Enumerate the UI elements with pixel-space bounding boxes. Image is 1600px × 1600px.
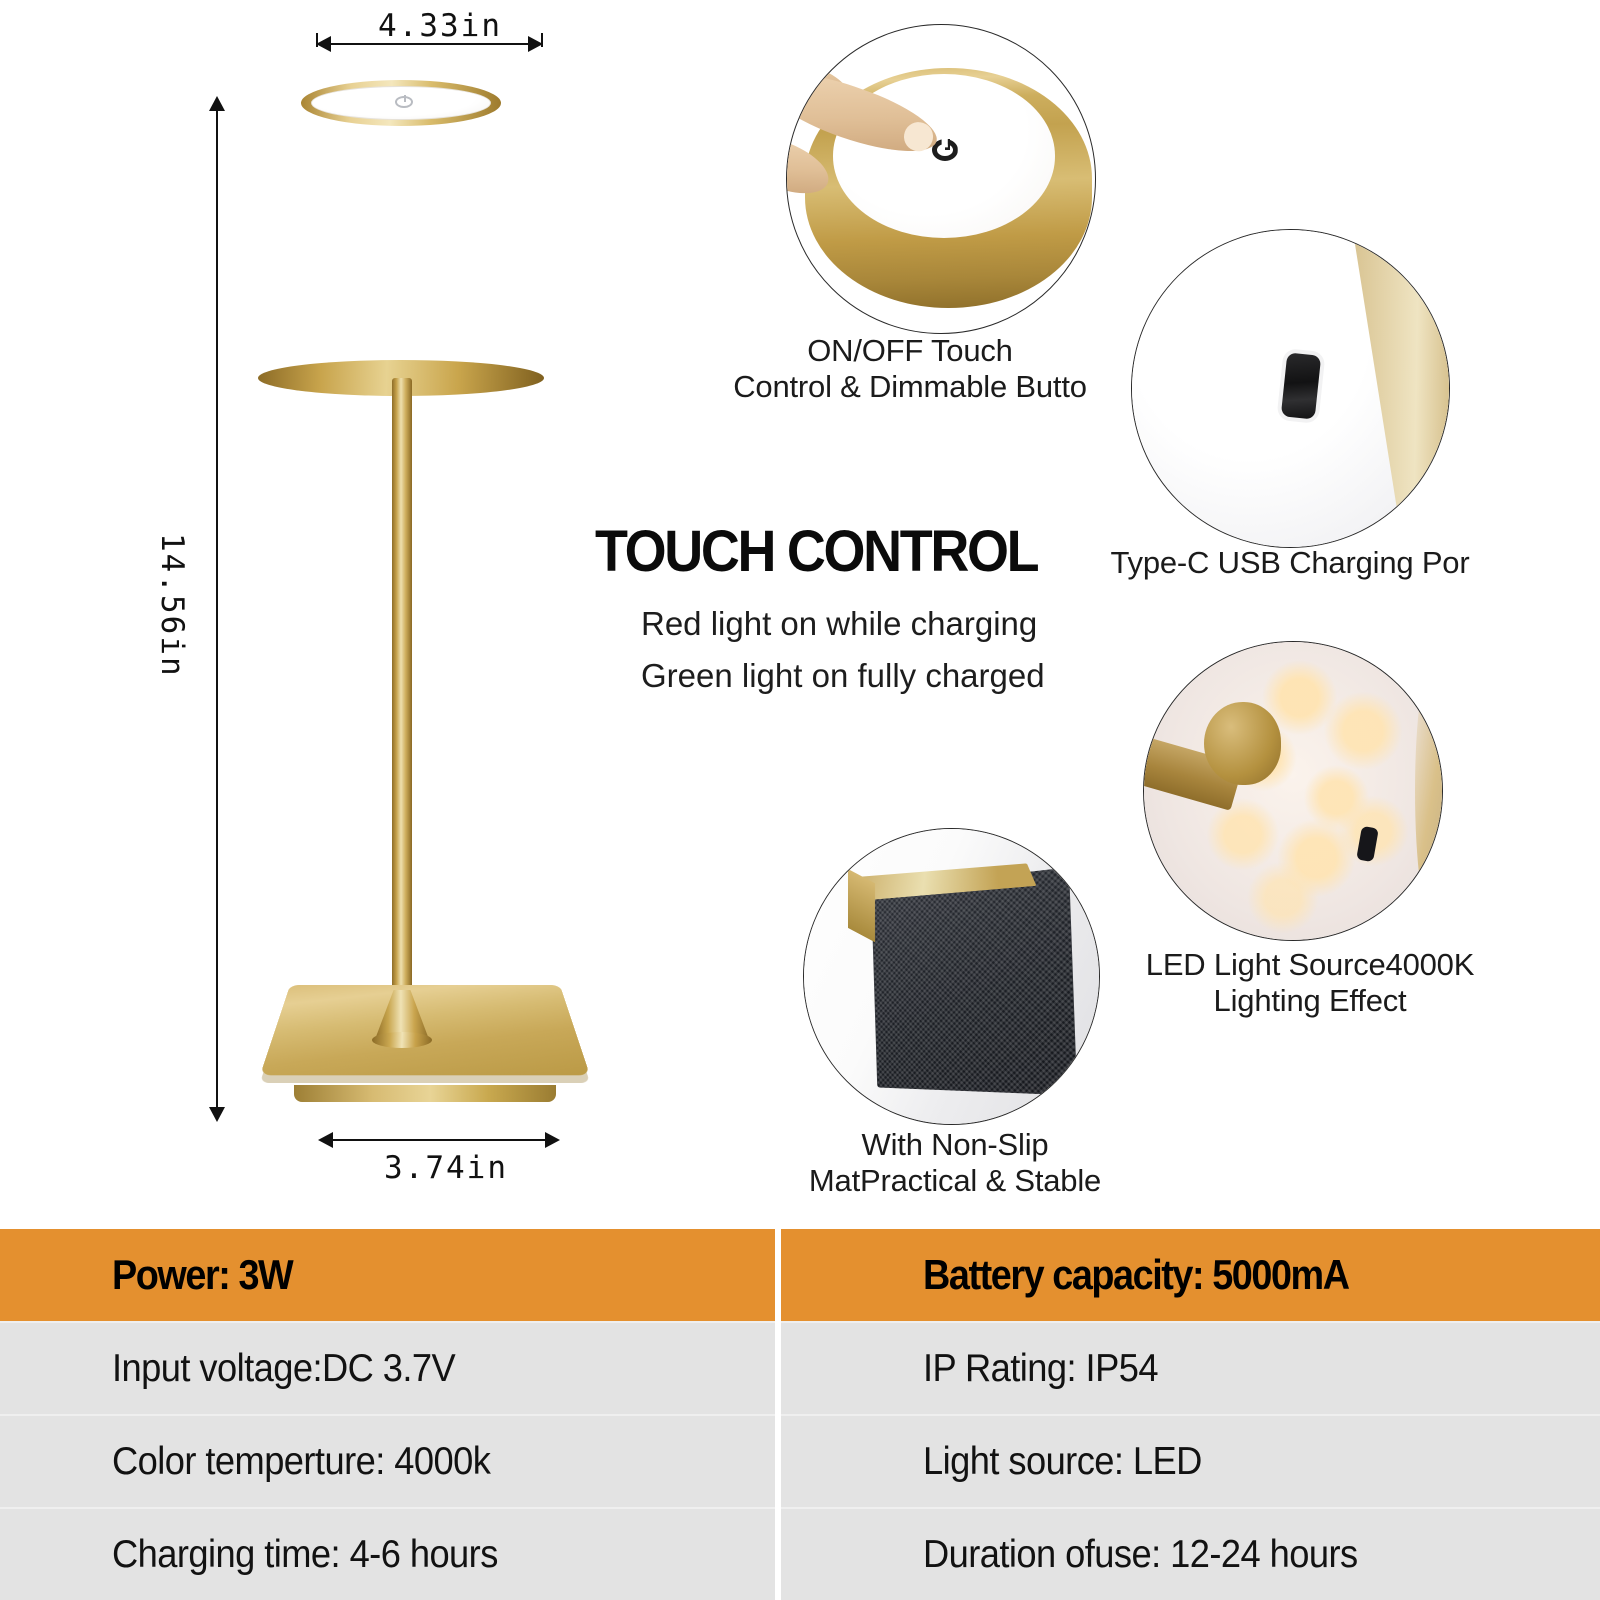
dimension-top-width-label: 4.33in	[378, 8, 502, 44]
power-button-icon[interactable]	[395, 96, 413, 108]
spec-header-left: Power: 3W	[0, 1229, 775, 1321]
dimension-base-width-arrow	[332, 1139, 547, 1141]
spec-header-right-text: Battery capacity: 5000mA	[923, 1251, 1349, 1299]
dimension-base-width-label: 3.74in	[384, 1150, 508, 1186]
headline-subtext-1: Red light on while charging	[641, 605, 1037, 643]
headline-subtext-2: Green light on fully charged	[641, 657, 1045, 695]
arrow-tip-up	[209, 96, 225, 111]
arrow-tip-left	[316, 36, 331, 52]
dimension-height-arrow	[216, 110, 218, 1110]
spec-cell-text: Duration ofuse: 12-24 hours	[923, 1533, 1358, 1577]
arrow-tip-right	[545, 1132, 560, 1148]
spec-cell-text: IP Rating: IP54	[923, 1347, 1158, 1391]
dimension-guide	[541, 33, 543, 47]
lamp-stem	[392, 378, 412, 1008]
feature-caption-led-source: LED Light Source4000K Lighting Effect	[1100, 947, 1520, 1020]
spec-row-2-left: Color temperture: 4000k	[0, 1414, 775, 1507]
spec-header-left-text: Power: 3W	[112, 1251, 292, 1299]
spec-table: Power: 3W Battery capacity: 5000mA Input…	[0, 1229, 1600, 1600]
spec-row-3-right: Duration ofuse: 12-24 hours	[781, 1507, 1600, 1600]
product-infographic: 4.33in 14.56in 3.74in ON/OFF Touch C	[0, 0, 1600, 1600]
spec-row-2-right: Light source: LED	[781, 1414, 1600, 1507]
spec-cell-text: Light source: LED	[923, 1440, 1202, 1484]
usb-c-port-icon	[1281, 352, 1322, 419]
feature-photo-touch-button	[786, 24, 1096, 334]
dimension-top-width-arrow	[330, 43, 530, 45]
non-slip-mat-icon	[871, 867, 1077, 1096]
feature-photo-led-source	[1143, 641, 1443, 941]
feature-caption-non-slip-mat: With Non-Slip MatPractical & Stable	[765, 1127, 1145, 1200]
arrow-tip-down	[209, 1107, 225, 1122]
dimension-height-label: 14.56in	[154, 533, 190, 678]
page-title: TOUCH CONTROL	[595, 518, 1037, 585]
feature-caption-touch-button: ON/OFF Touch Control & Dimmable Butto	[700, 333, 1120, 406]
lamp-base-edge	[294, 1085, 556, 1102]
lamp-stem-flare	[1204, 702, 1281, 785]
spec-row-1-left: Input voltage:DC 3.7V	[0, 1321, 775, 1414]
dimension-guide	[316, 33, 318, 47]
lamp-shade-highlight	[262, 96, 540, 381]
feature-photo-non-slip-mat	[803, 828, 1100, 1125]
spec-cell-text: Charging time: 4-6 hours	[112, 1533, 498, 1577]
spec-row-3-left: Charging time: 4-6 hours	[0, 1507, 775, 1600]
feature-caption-usb-port: Type-C USB Charging Por	[1090, 545, 1490, 581]
gold-rim	[1415, 660, 1443, 922]
feature-photo-usb-port	[1131, 229, 1450, 548]
arrow-tip-left	[318, 1132, 333, 1148]
lamp-stem-flare-foot	[372, 1032, 432, 1048]
spec-cell-text: Color temperture: 4000k	[112, 1440, 490, 1484]
spec-cell-text: Input voltage:DC 3.7V	[112, 1347, 455, 1391]
spec-row-1-right: IP Rating: IP54	[781, 1321, 1600, 1414]
spec-header-right: Battery capacity: 5000mA	[781, 1229, 1600, 1321]
